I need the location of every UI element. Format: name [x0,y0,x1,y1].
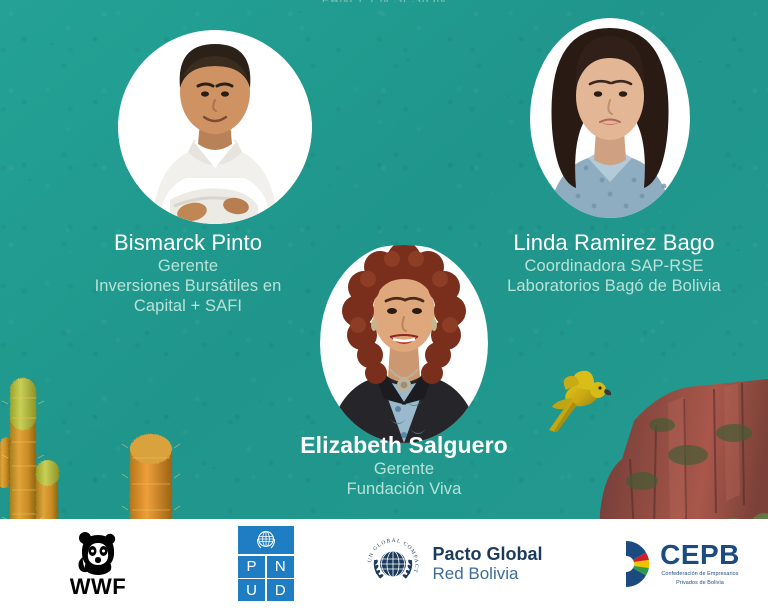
pnud-letter-grid: P N U D [238,556,294,602]
person-role-elizabeth-line1: Gerente [250,459,558,479]
wwf-wordmark: WWF [70,577,126,597]
un-global-compact-globe-icon: UN GLOBAL COMPACT [365,536,421,592]
person-name-elizabeth: Elizabeth Salguero [250,432,558,459]
logo-pnud[interactable]: P N U D [196,519,336,608]
person-text-bismarck: Bismarck Pinto Gerente Inversiones Bursá… [28,229,348,316]
portrait-linda [530,18,690,218]
logo-cepb[interactable]: CEPB Confederación de Empresarios Privad… [572,519,768,608]
person-role-linda-line2: Laboratorios Bagó de Bolivia [460,276,768,296]
un-emblem-icon [238,526,294,554]
sponsor-logo-bar: WWF P N [0,519,768,608]
person-text-linda: Linda Ramirez Bago Coordinadora SAP-RSE … [460,229,768,296]
person-name-bismarck: Bismarck Pinto [28,229,348,256]
portrait-bismarck-image [118,30,312,224]
person-role-bismarck-line1: Gerente [28,256,348,276]
logo-wwf[interactable]: WWF [0,519,196,608]
pnud-letter-n: N [267,556,294,578]
portrait-linda-image [530,18,690,218]
pnud-letter-d: D [267,579,294,601]
cepb-acronym: CEPB [660,540,740,569]
person-role-bismarck-line3: Capital + SAFI [28,296,348,316]
cepb-tagline-line1: Confederación de Empresarios [660,571,740,578]
pnud-letter-u: U [238,579,265,601]
pacto-global-title: Pacto Global [432,544,542,564]
person-role-bismarck-line2: Inversiones Bursátiles en [28,276,348,296]
person-role-elizabeth-line2: Fundación Viva [250,479,558,499]
pacto-global-subtitle: Red Bolivia [432,564,542,583]
cepb-c-mark-icon [600,538,652,590]
poster-canvas: PANEL EN SESIÓN [0,0,768,608]
cepb-tagline-line2: Privados de Bolivia [660,580,740,587]
top-cropped-text: PANEL EN SESIÓN [0,0,768,2]
person-text-elizabeth: Elizabeth Salguero Gerente Fundación Viv… [250,432,558,499]
person-role-linda-line1: Coordinadora SAP-RSE [460,256,768,276]
person-name-linda: Linda Ramirez Bago [460,229,768,256]
logo-pacto-global[interactable]: UN GLOBAL COMPACT [336,519,572,608]
panda-icon [74,531,122,575]
portrait-bismarck [118,30,312,224]
pnud-letter-p: P [238,556,265,578]
